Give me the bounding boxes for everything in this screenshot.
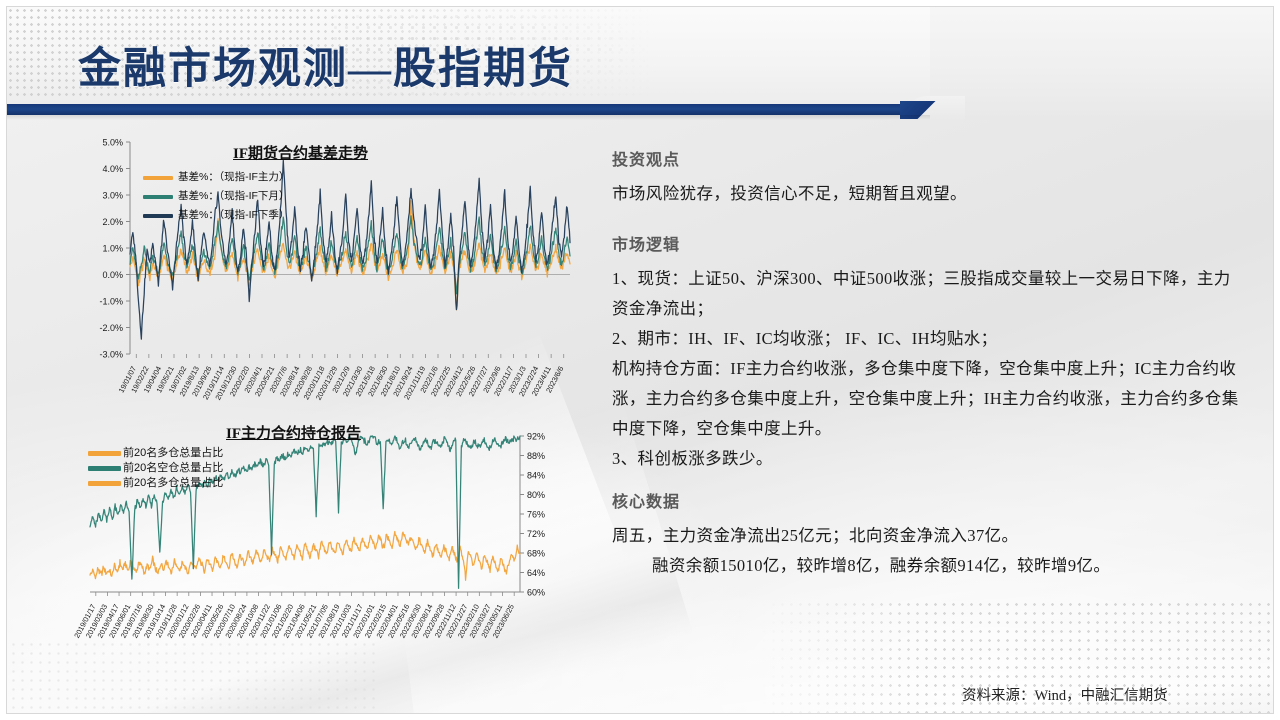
- basis-chart-canvas: 5.0%4.0%3.0%2.0%1.0%0.0%-1.0%-2.0%-3.0%1…: [58, 134, 578, 424]
- slide-root: 金融市场观测—股指期货 IF期货合约基差走势 基差%：（现指-IF主力） 基差%…: [0, 0, 1280, 720]
- commentary-panel: 投资观点 市场风险犹存，投资信心不足，短期暂且观望。 市场逻辑 1、现货：上证5…: [612, 146, 1242, 581]
- section-heading: 市场逻辑: [612, 231, 1242, 255]
- section-paragraph: 市场风险犹存，投资信心不足，短期暂且观望。: [612, 179, 1242, 209]
- svg-text:84%: 84%: [527, 470, 545, 480]
- source-note: 资料来源：Wind，中融汇信期货: [962, 684, 1168, 705]
- section-paragraph: 融资余额15010亿，较昨增8亿，融券余额914亿，较昨增9亿。: [612, 551, 1242, 581]
- legend-swatch-icon: [88, 451, 121, 456]
- svg-text:60%: 60%: [527, 587, 545, 597]
- svg-text:3.0%: 3.0%: [102, 190, 123, 200]
- svg-text:5.0%: 5.0%: [102, 137, 123, 147]
- legend-label: 基差%：（现指-IF下月）: [178, 187, 289, 206]
- svg-text:-1.0%: -1.0%: [99, 296, 123, 306]
- section-paragraph: 3、科创板涨多跌少。: [612, 444, 1242, 474]
- legend-item: 前20名多仓总量占比: [88, 446, 223, 461]
- section-heading: 投资观点: [612, 146, 1242, 170]
- svg-text:92%: 92%: [527, 431, 545, 441]
- svg-text:0.0%: 0.0%: [102, 270, 123, 280]
- svg-text:-3.0%: -3.0%: [99, 349, 123, 359]
- svg-text:1.0%: 1.0%: [102, 243, 123, 253]
- legend-item: 前20名多仓总量占比: [88, 476, 223, 491]
- section-paragraph: 机构持仓方面：IF主力合约收涨，多仓集中度下降，空仓集中度上升；IC主力合约收涨…: [612, 354, 1242, 444]
- legend-label: 基差%：（现指-IF主力）: [178, 168, 289, 187]
- legend-label: 前20名多仓总量占比: [123, 446, 223, 461]
- section-paragraph: 1、现货：上证50、沪深300、中证500收涨；三股指成交量较上一交易日下降，主…: [612, 264, 1242, 324]
- svg-text:4.0%: 4.0%: [102, 164, 123, 174]
- legend-item: 基差%：（现指-IF主力）: [143, 168, 289, 187]
- legend-swatch-icon: [143, 176, 173, 180]
- slide-header: 金融市场观测—股指期货: [0, 0, 1280, 120]
- svg-text:80%: 80%: [527, 490, 545, 500]
- svg-text:68%: 68%: [527, 548, 545, 558]
- basis-chart: IF期货合约基差走势 基差%：（现指-IF主力） 基差%：（现指-IF下月） 基…: [58, 134, 578, 424]
- section-core-data: 核心数据 周五，主力资金净流出25亿元；北向资金净流入37亿。 融资余额1501…: [612, 488, 1242, 581]
- position-chart: IF主力合约持仓报告 前20名多仓总量占比 前20名空仓总量占比 前20名多仓总…: [58, 420, 588, 685]
- page-title: 金融市场观测—股指期货: [78, 34, 573, 96]
- svg-text:2.0%: 2.0%: [102, 217, 123, 227]
- legend-label: 基差%：（现指-IF下季）: [178, 206, 289, 225]
- header-bar-shadow: [0, 115, 930, 120]
- svg-text:-2.0%: -2.0%: [99, 323, 123, 333]
- legend-item: 基差%：（现指-IF下季）: [143, 206, 289, 225]
- section-paragraph: 周五，主力资金净流出25亿元；北向资金净流入37亿。: [612, 521, 1242, 551]
- header-accent-bar: [0, 104, 918, 115]
- svg-text:64%: 64%: [527, 568, 545, 578]
- legend-item: 基差%：（现指-IF下月）: [143, 187, 289, 206]
- svg-text:72%: 72%: [527, 529, 545, 539]
- basis-chart-legend: 基差%：（现指-IF主力） 基差%：（现指-IF下月） 基差%：（现指-IF下季…: [143, 168, 289, 225]
- basis-chart-title: IF期货合约基差走势: [233, 142, 368, 163]
- legend-item: 前20名空仓总量占比: [88, 461, 223, 476]
- svg-text:88%: 88%: [527, 451, 545, 461]
- section-paragraph: 2、期市：IH、IF、IC均收涨； IF、IC、IH均贴水；: [612, 324, 1242, 354]
- legend-label: 前20名空仓总量占比: [123, 461, 223, 476]
- legend-label: 前20名多仓总量占比: [123, 476, 223, 491]
- position-chart-title: IF主力合约持仓报告: [226, 422, 361, 443]
- section-heading: 核心数据: [612, 488, 1242, 512]
- legend-swatch-icon: [143, 214, 173, 218]
- section-spacer: [612, 209, 1242, 231]
- section-spacer: [612, 474, 1242, 488]
- legend-swatch-icon: [88, 466, 121, 471]
- section-market-logic: 市场逻辑 1、现货：上证50、沪深300、中证500收涨；三股指成交量较上一交易…: [612, 231, 1242, 474]
- legend-swatch-icon: [88, 481, 121, 486]
- legend-swatch-icon: [143, 195, 173, 199]
- header-right-panel: [930, 0, 1280, 120]
- svg-text:76%: 76%: [527, 509, 545, 519]
- position-chart-legend: 前20名多仓总量占比 前20名空仓总量占比 前20名多仓总量占比: [88, 446, 223, 491]
- section-investment-view: 投资观点 市场风险犹存，投资信心不足，短期暂且观望。: [612, 146, 1242, 209]
